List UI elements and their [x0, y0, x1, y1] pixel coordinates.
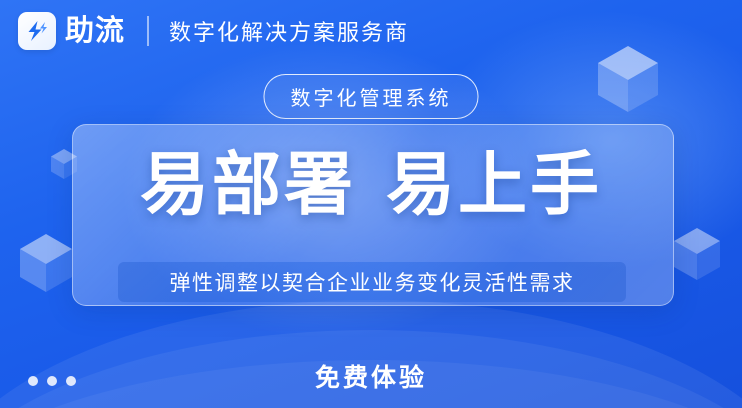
hero-subtitle-bar: 弹性调整以契合企业业务变化灵活性需求 — [118, 262, 626, 302]
headline-left: 易部署 — [140, 146, 356, 223]
brand-tagline: 数字化解决方案服务商 — [169, 15, 409, 47]
carousel-dot-3[interactable] — [66, 376, 76, 386]
headline-right: 易上手 — [386, 146, 602, 223]
brand-header: 助流 数字化解决方案服务商 — [0, 0, 742, 62]
system-pill-label: 数字化管理系统 — [264, 74, 479, 119]
lightning-bolt-icon — [25, 19, 49, 43]
promo-banner: 助流 数字化解决方案服务商 数字化管理系统 易部署易上手 弹性调整以契合企业业务… — [0, 0, 742, 408]
carousel-dot-2[interactable] — [47, 376, 57, 386]
cta-free-trial[interactable]: 免费体验 — [0, 358, 742, 394]
carousel-dots[interactable] — [28, 376, 76, 386]
hero-headline: 易部署易上手 — [0, 150, 742, 219]
header-divider — [147, 16, 149, 46]
brand-name: 助流 — [65, 17, 125, 46]
hero-subtitle: 弹性调整以契合企业业务变化灵活性需求 — [170, 267, 575, 297]
logo-mark[interactable] — [18, 12, 56, 50]
cube-right-lower-icon — [672, 226, 722, 282]
cube-mid-left-icon — [18, 232, 74, 294]
carousel-dot-1[interactable] — [28, 376, 38, 386]
